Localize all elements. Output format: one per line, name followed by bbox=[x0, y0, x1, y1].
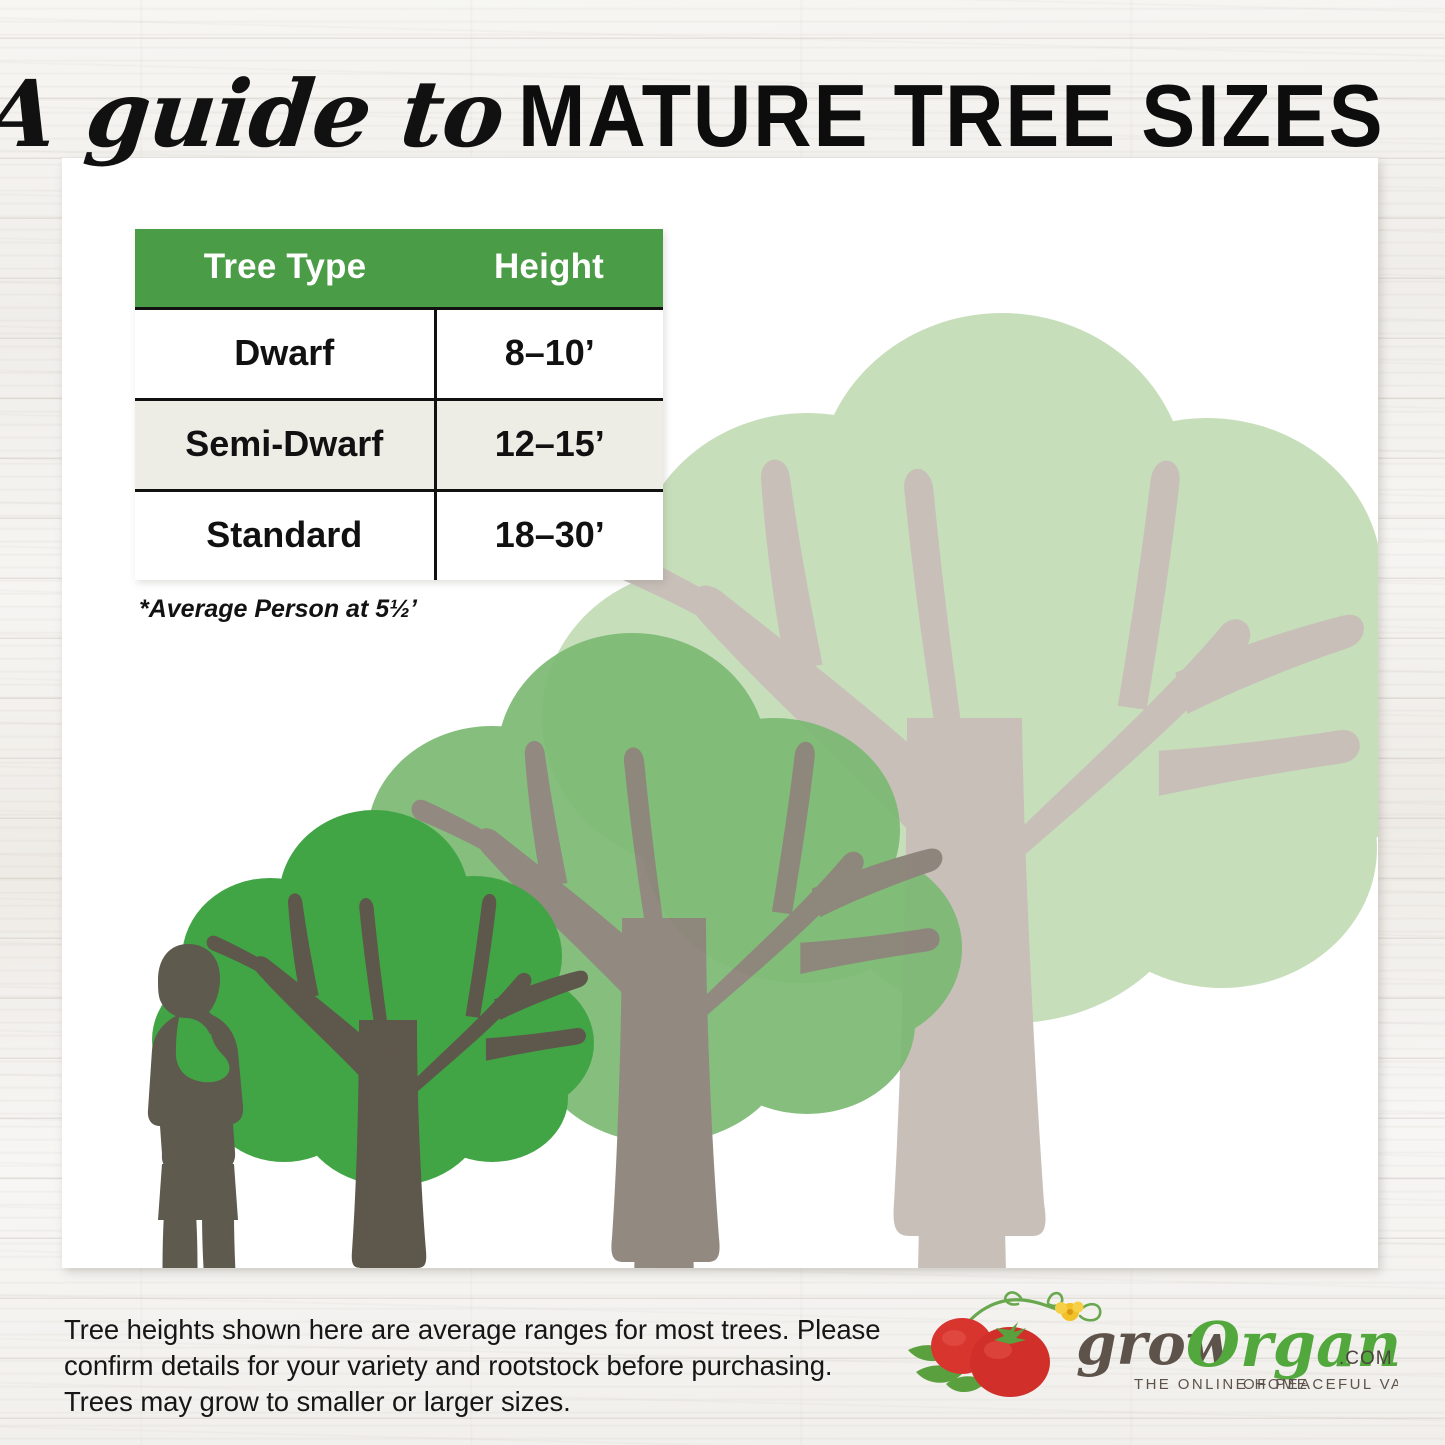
footer-disclaimer: Tree heights shown here are average rang… bbox=[64, 1312, 884, 1419]
table-row: Dwarf 8–10’ bbox=[135, 309, 663, 400]
average-person-note: *Average Person at 5½’ bbox=[139, 595, 417, 624]
logo-word-organic: Organic bbox=[1186, 1308, 1398, 1381]
cell-height-dwarf: 8–10’ bbox=[435, 309, 663, 400]
cell-tree-type-standard: Standard bbox=[135, 491, 435, 581]
column-header-tree-type: Tree Type bbox=[135, 229, 435, 309]
content-card: Tree Type Height Dwarf 8–10’ Semi-Dwarf … bbox=[62, 158, 1378, 1268]
cell-height-standard: 18–30’ bbox=[435, 491, 663, 581]
page-title-script: A guide to bbox=[0, 71, 508, 158]
logo-domain: .COM bbox=[1339, 1348, 1393, 1369]
page-title: A guide to MATURE TREE SIZES bbox=[0, 48, 1445, 158]
table-row: Semi-Dwarf 12–15’ bbox=[135, 400, 663, 491]
cell-tree-type-dwarf: Dwarf bbox=[135, 309, 435, 400]
grow-organic-logo[interactable]: grow Organic .COM THE ONLINE HOME OF PEA… bbox=[898, 1288, 1398, 1408]
cell-height-semi-dwarf: 12–15’ bbox=[435, 400, 663, 491]
logo-tagline-right: OF PEACEFUL VALLEY bbox=[1243, 1376, 1398, 1393]
page-title-block: MATURE TREE SIZES bbox=[518, 74, 1384, 158]
table-header-row: Tree Type Height bbox=[135, 229, 663, 309]
table-row: Standard 18–30’ bbox=[135, 491, 663, 581]
column-header-height: Height bbox=[435, 229, 663, 309]
tree-size-table: Tree Type Height Dwarf 8–10’ Semi-Dwarf … bbox=[135, 229, 663, 580]
cell-tree-type-semi-dwarf: Semi-Dwarf bbox=[135, 400, 435, 491]
